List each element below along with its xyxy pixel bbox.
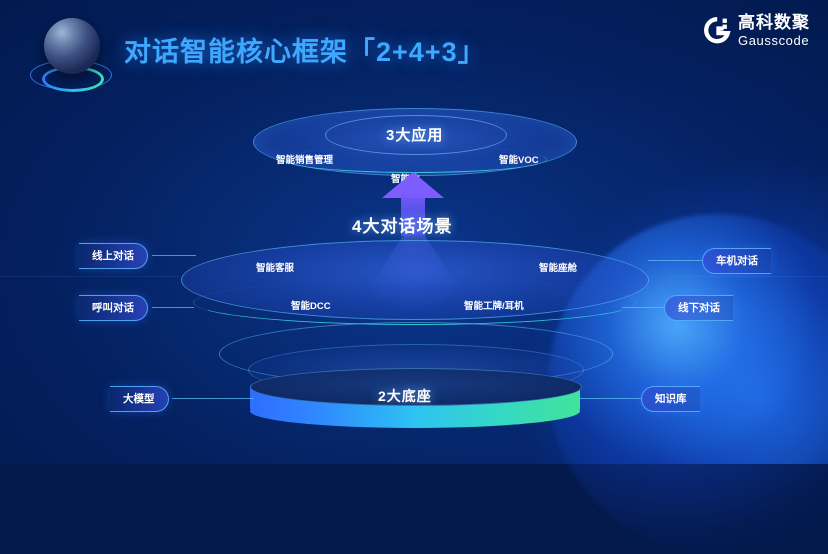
brand-name-cn: 高科数聚 [738, 14, 810, 31]
slide-header: 对话智能核心框架「2+4+3」 高科数聚 Gausscode [0, 0, 828, 104]
gausscode-g-mark-icon [704, 17, 731, 44]
connector-online-dialog [152, 255, 196, 256]
deco-line-right [668, 276, 828, 277]
foundation-layer: 2大底座 [250, 368, 580, 424]
deco-line-left [0, 276, 180, 277]
pill-offline-dialog[interactable]: 线下对话 [664, 295, 733, 321]
scenes-disc-edge [193, 280, 637, 325]
application-label-sales: 智能销售管理 [276, 152, 333, 166]
connector-offline-dialog [622, 307, 664, 308]
connector-call-dialog [152, 307, 194, 308]
pill-call-dialog[interactable]: 呼叫对话 [79, 295, 148, 321]
scenes-title: 4大对话场景 [352, 212, 452, 237]
connector-large-model [172, 398, 254, 399]
slide-canvas: 对话智能核心框架「2+4+3」 高科数聚 Gausscode 3大应用 智能销售… [0, 0, 828, 464]
glowing-sphere-icon [26, 16, 114, 96]
sphere-ball-icon [44, 18, 100, 74]
scene-label-cockpit: 智能座舱 [539, 260, 577, 274]
connector-knowledge-base [580, 398, 641, 399]
applications-title: 3大应用 [386, 124, 443, 145]
pill-knowledge-base[interactable]: 知识库 [641, 386, 700, 412]
foundation-title: 2大底座 [378, 386, 432, 406]
connector-invehicle-dialog [648, 260, 702, 261]
pill-online-dialog[interactable]: 线上对话 [79, 243, 148, 269]
pill-large-model[interactable]: 大模型 [110, 386, 169, 412]
application-label-voc: 智能VOC [499, 152, 539, 166]
scene-label-customer-service: 智能客服 [256, 260, 294, 274]
scenes-layer: 智能客服 智能座舱 智能DCC 智能工牌/耳机 [181, 240, 647, 324]
page-title: 对话智能核心框架「2+4+3」 [124, 30, 486, 69]
pill-invehicle-dialog[interactable]: 车机对话 [702, 248, 771, 274]
scene-label-dcc: 智能DCC [291, 298, 331, 312]
brand-name-en: Gausscode [738, 34, 810, 47]
scene-label-badge-headset: 智能工牌/耳机 [464, 298, 524, 312]
brand-logo: 高科数聚 Gausscode [704, 14, 810, 47]
